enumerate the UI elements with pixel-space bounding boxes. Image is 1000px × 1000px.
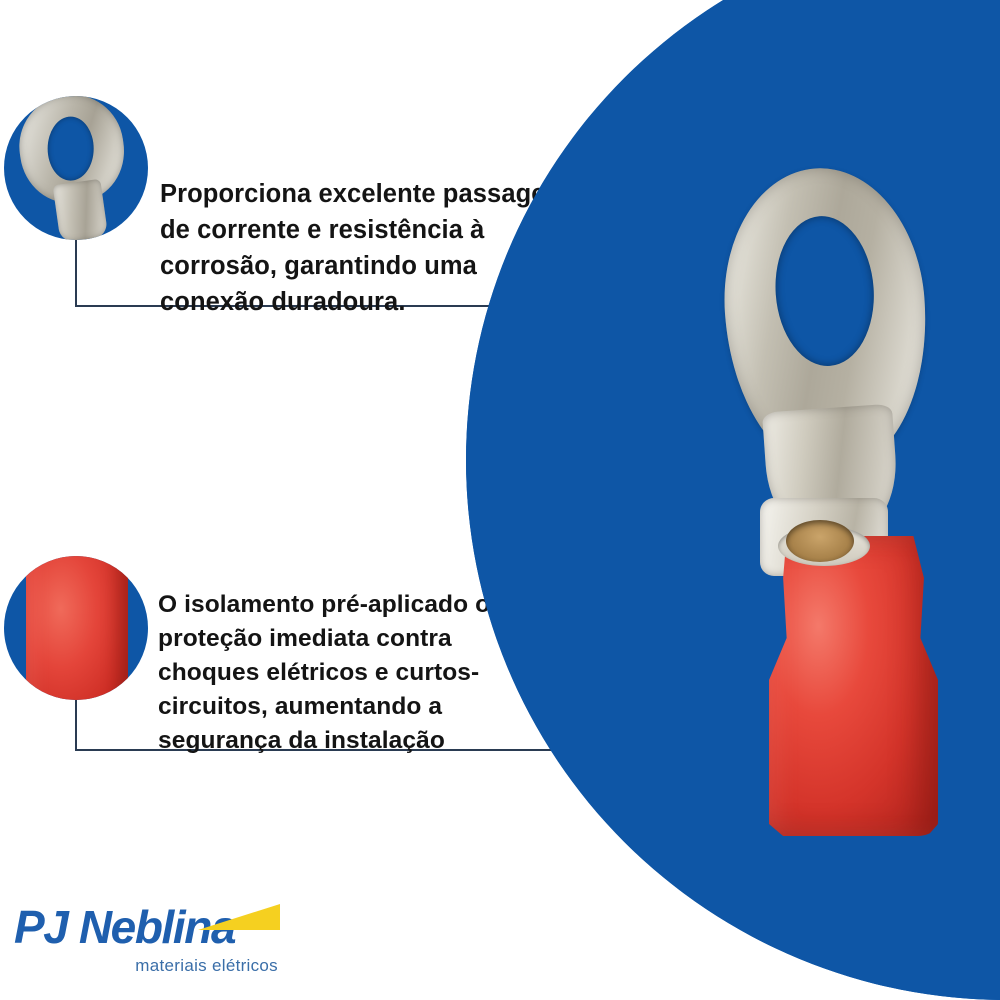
logo[interactable]: PJ Neblina materiais elétricos <box>14 902 284 986</box>
ring-stem-shape <box>53 179 109 240</box>
product-red-insulation-sleeve <box>762 536 938 836</box>
inset-red-insulation-sleeve-closeup <box>4 556 148 700</box>
product-barrel-opening <box>786 520 854 562</box>
callout-bottom-line-3: choques elétricos e curtos- <box>158 656 563 690</box>
product-infographic-canvas: Proporciona excelente passagem de corren… <box>0 0 1000 1000</box>
red-insulation-sleeve-icon <box>26 556 128 700</box>
callout-bottom-line-1: O isolamento pré-aplicado oferece <box>158 588 563 622</box>
callout-top-line-1: Proporciona excelente passagem <box>160 176 568 212</box>
callout-bottom-line-2: proteção imediata contra <box>158 622 563 656</box>
callout-bottom-line-4: circuitos, aumentando a <box>158 690 563 724</box>
callout-top-line-4: conexão duradoura. <box>160 284 568 320</box>
inset-ring-terminal-metal-closeup <box>4 96 148 240</box>
callout-bottom-text: O isolamento pré-aplicado oferece proteç… <box>158 588 563 758</box>
callout-line-top-vertical <box>75 240 77 306</box>
callout-bottom-line-5: segurança da instalação <box>158 724 563 758</box>
ring-hole-shape <box>48 117 94 181</box>
ring-terminal-metal-icon <box>10 96 142 240</box>
logo-tagline: materiais elétricos <box>135 956 278 976</box>
product-ring-head <box>715 161 940 544</box>
product-image-ring-terminal <box>700 168 1000 848</box>
callout-top-line-3: corrosão, garantindo uma <box>160 248 568 284</box>
callout-top-text: Proporciona excelente passagem de corren… <box>160 176 568 320</box>
callout-line-bottom-vertical <box>75 700 77 750</box>
callout-top-line-2: de corrente e resistência à <box>160 212 568 248</box>
